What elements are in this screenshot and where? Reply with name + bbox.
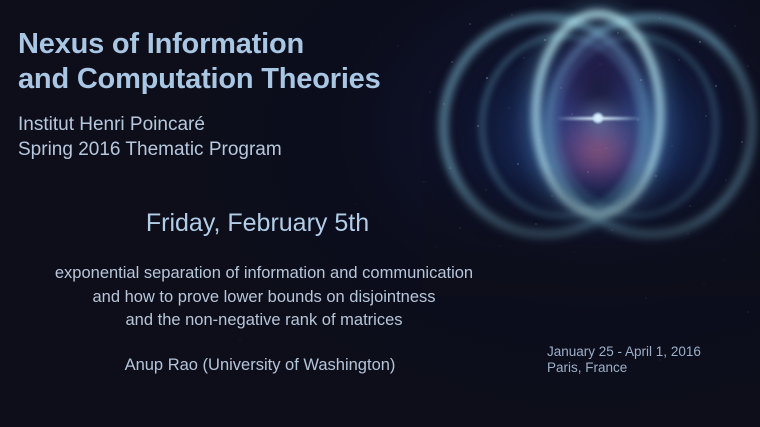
nebula-rings-graphic <box>422 0 760 286</box>
nebula-right-fade <box>714 0 760 286</box>
poster-title-line2: and Computation Theories <box>18 63 381 95</box>
talk-title: exponential separation of information an… <box>0 262 528 333</box>
program-info: January 25 - April 1, 2016 Paris, France <box>547 344 701 376</box>
poster-title: Nexus of Information and Computation The… <box>18 27 381 97</box>
poster-title-line1: Nexus of Information <box>18 28 304 60</box>
speaker-name: Anup Rao (University of Washington) <box>0 356 520 375</box>
program-dates: January 25 - April 1, 2016 <box>547 344 701 359</box>
poster-subtitle: Institut Henri Poincaré Spring 2016 Them… <box>18 112 282 162</box>
institution-name: Institut Henri Poincaré <box>18 114 205 135</box>
talk-title-line3: and the non-negative rank of matrices <box>126 311 403 329</box>
event-date: Friday, February 5th <box>0 209 515 238</box>
program-location: Paris, France <box>547 360 627 375</box>
talk-title-line2: and how to prove lower bounds on disjoin… <box>92 288 435 306</box>
conference-poster: Nexus of Information and Computation The… <box>0 0 760 427</box>
program-name: Spring 2016 Thematic Program <box>18 139 282 160</box>
talk-title-line1: exponential separation of information an… <box>55 264 473 282</box>
